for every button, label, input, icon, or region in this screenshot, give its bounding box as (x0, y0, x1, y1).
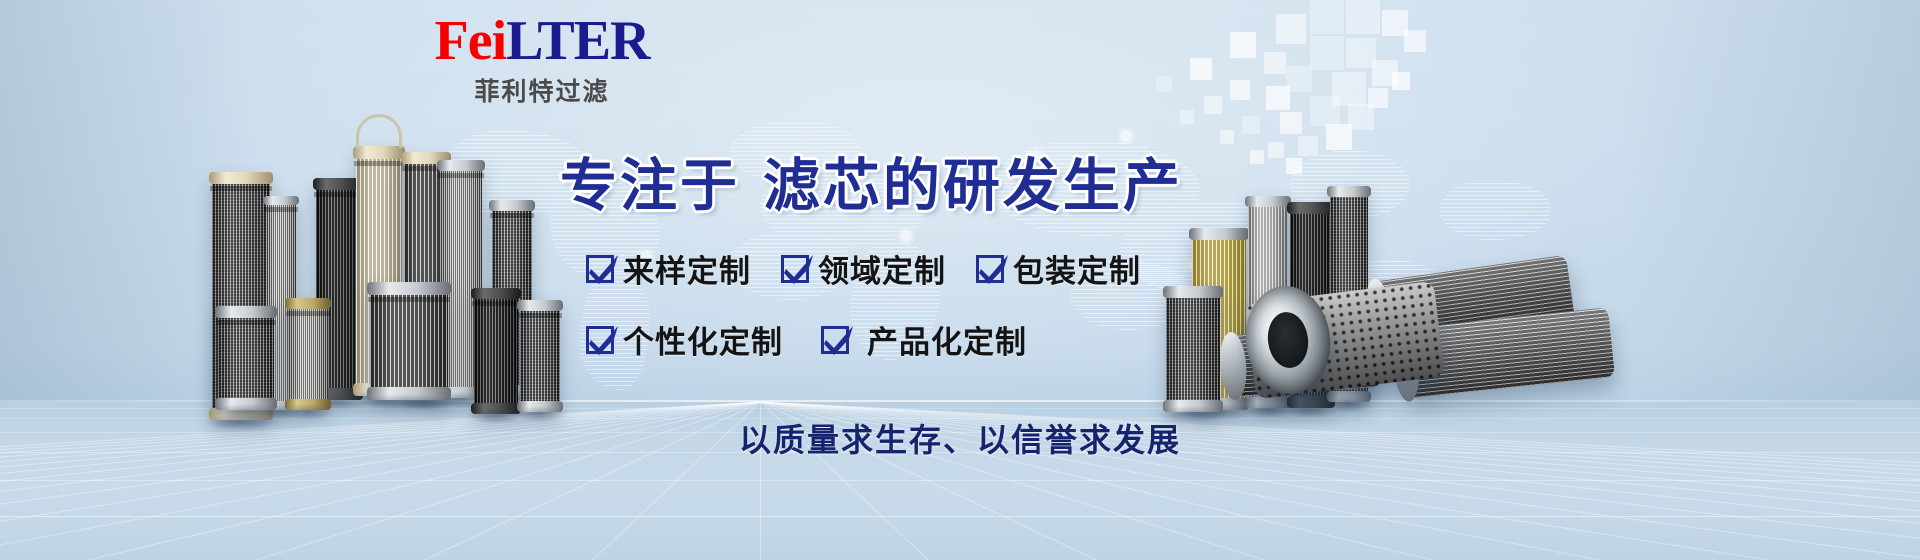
checkbox-checked-icon (586, 326, 614, 354)
feature-item[interactable]: 包装定制 (976, 246, 1141, 291)
feature-row-2: 个性化定制 产品化定制 (586, 317, 1141, 362)
logo-wordmark-fei: Fei (435, 10, 507, 72)
headline: 专注于 滤芯的研发生产 (560, 140, 1183, 222)
checkbox-checked-icon (821, 326, 849, 354)
feature-label: 个性化定制 (623, 317, 783, 362)
feature-row-1: 来样定制 领域定制 包装定制 (586, 246, 1141, 291)
brand-logo: FeiLTER 菲利特过滤 (392, 12, 692, 108)
feature-label: 来样定制 (623, 246, 751, 291)
feature-list: 来样定制 领域定制 包装定制 个性化定制 (586, 246, 1141, 362)
feature-label: 领域定制 (818, 246, 946, 291)
logo-wordmark: FeiLTER (392, 12, 692, 70)
feature-item[interactable]: 产品化定制 (821, 317, 1027, 362)
checkbox-checked-icon (586, 255, 614, 283)
feature-label: 包装定制 (1013, 246, 1141, 291)
feature-label: 产品化定制 (867, 317, 1027, 362)
promo-banner: FeiLTER 菲利特过滤 专注于 滤芯的研发生产 来样定制 领域定制 (0, 0, 1920, 560)
logo-chinese-name: 菲利特过滤 (392, 72, 692, 108)
logo-wordmark-lter: LTER (506, 10, 649, 72)
feature-item[interactable]: 个性化定制 (586, 317, 783, 362)
feature-item[interactable]: 领域定制 (781, 246, 946, 291)
tagline: 以质量求生存、以信誉求发展 (0, 415, 1920, 461)
feature-item[interactable]: 来样定制 (586, 246, 751, 291)
checkbox-checked-icon (781, 255, 809, 283)
checkbox-checked-icon (976, 255, 1004, 283)
